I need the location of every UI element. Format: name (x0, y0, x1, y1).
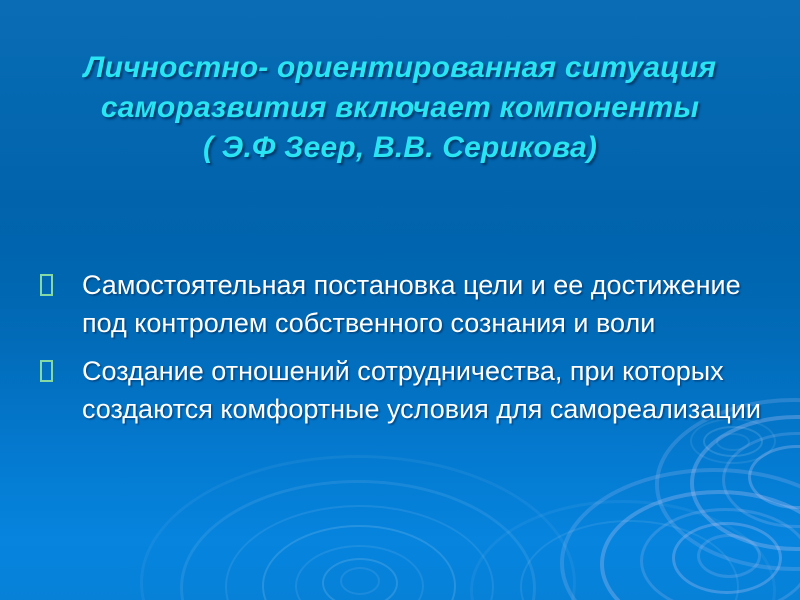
list-item: Создание отношений сотрудничества, при к… (40, 352, 770, 428)
list-item-text: Создание отношений сотрудничества, при к… (54, 352, 770, 428)
hollow-box-bullet-icon (40, 274, 53, 296)
list-item-text: Самостоятельная постановка цели и ее дос… (54, 266, 770, 342)
presentation-slide: Личностно- ориентированная ситуация само… (0, 0, 800, 600)
slide-body: Самостоятельная постановка цели и ее дос… (40, 266, 770, 438)
hollow-box-bullet-icon (40, 360, 53, 382)
list-item: Самостоятельная постановка цели и ее дос… (40, 266, 770, 342)
title-line-2: саморазвития включает компоненты (40, 88, 760, 128)
title-line-1: Личностно- ориентированная ситуация (40, 48, 760, 88)
title-line-3: ( Э.Ф Зеер, В.В. Серикова) (40, 128, 760, 168)
slide-title: Личностно- ориентированная ситуация само… (40, 48, 760, 168)
